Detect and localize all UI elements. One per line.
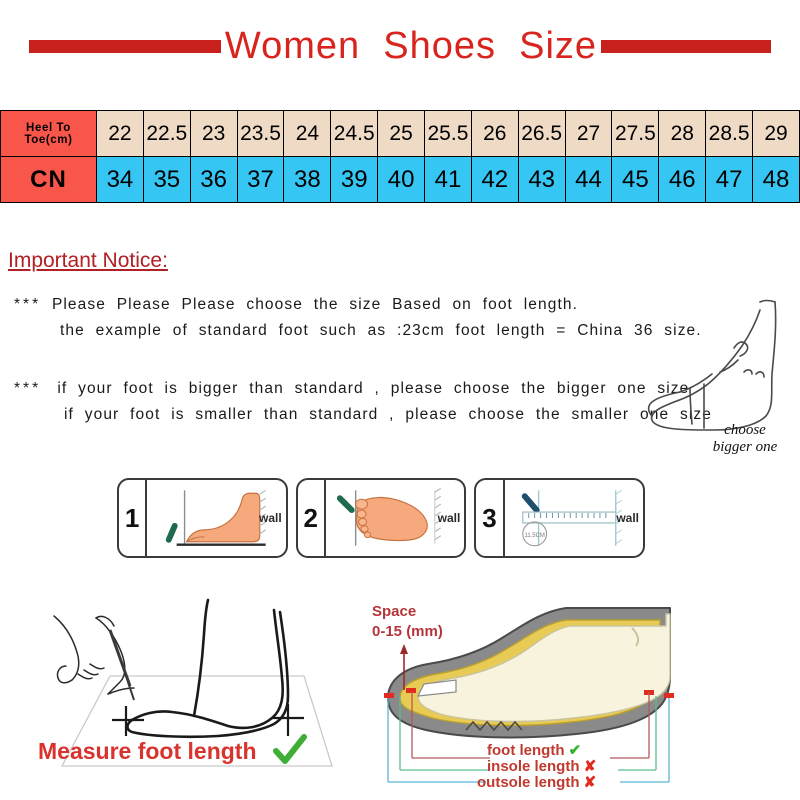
cell-cm: 22	[97, 111, 144, 157]
cell-cm: 23	[190, 111, 237, 157]
title-rule-left	[29, 40, 221, 53]
cell-cm: 24	[284, 111, 331, 157]
important-notice-heading: Important Notice:	[8, 249, 168, 273]
cell-cn: 42	[471, 157, 518, 203]
measure-foot-length-caption: Measure foot length	[38, 738, 257, 765]
caption-line-1: choose	[690, 422, 800, 439]
notice-text: Please Please Please choose the size Bas…	[52, 296, 578, 313]
cell-cm: 29	[753, 111, 800, 157]
title-rule-right	[601, 40, 771, 53]
check-mark-icon	[272, 734, 308, 768]
notice-block-2: *** if your foot is bigger than standard…	[14, 376, 712, 428]
cell-cm: 28	[659, 111, 706, 157]
cell-cn: 34	[97, 157, 144, 203]
notice-line: *** if your foot is bigger than standard…	[14, 376, 712, 402]
step-illustration-foot-top: wall	[326, 480, 464, 556]
caption-line-2: bigger one	[690, 439, 800, 456]
notice-text: if your foot is bigger than standard , p…	[57, 380, 689, 397]
cell-cm: 28.5	[706, 111, 753, 157]
cell-cm: 24.5	[331, 111, 378, 157]
cell-cm: 23.5	[237, 111, 284, 157]
row-label-heel-to-toe: Heel To Toe(cm)	[1, 111, 97, 157]
step-illustration-ruler: 11.5CM wall	[505, 480, 643, 556]
step-panel-1: 1 wall	[117, 478, 288, 558]
cell-cn: 35	[143, 157, 190, 203]
cross-mark-icon: ✘	[584, 774, 597, 791]
cell-cm: 26.5	[518, 111, 565, 157]
cell-cm: 26	[471, 111, 518, 157]
cell-cn: 46	[659, 157, 706, 203]
cell-cn: 48	[753, 157, 800, 203]
step-number: 2	[298, 480, 326, 556]
measurement-steps: 1 wall 2	[117, 478, 645, 558]
space-label-line-1: Space	[372, 602, 443, 622]
cell-cm: 27	[565, 111, 612, 157]
ruler-reading: 11.5CM	[524, 533, 544, 539]
wall-label: wall	[616, 511, 639, 525]
cell-cm: 25	[378, 111, 425, 157]
cell-cn: 39	[331, 157, 378, 203]
cell-cm: 22.5	[143, 111, 190, 157]
table-row-cn: CN 34 35 36 37 38 39 40 41 42 43 44 45 4…	[1, 157, 800, 203]
row-label-cn: CN	[1, 157, 97, 203]
table-row-heel-to-toe: Heel To Toe(cm) 22 22.5 23 23.5 24 24.5 …	[1, 111, 800, 157]
cell-cn: 41	[425, 157, 472, 203]
page-title-bar: Women Shoes Size	[0, 18, 800, 74]
cell-cn: 37	[237, 157, 284, 203]
dimension-label-outsole-length: outsole length ✘	[477, 773, 596, 791]
cell-cn: 40	[378, 157, 425, 203]
cell-cm: 25.5	[425, 111, 472, 157]
page-title: Women Shoes Size	[221, 27, 601, 65]
notice-line: if your foot is smaller than standard , …	[14, 402, 712, 428]
cell-cn: 36	[190, 157, 237, 203]
step-panel-3: 3 11.5CM	[474, 478, 645, 558]
cell-cn: 43	[518, 157, 565, 203]
foot-sketch-caption: choose bigger one	[690, 422, 800, 456]
space-label-line-2: 0-15 (mm)	[372, 622, 443, 642]
step-number: 3	[476, 480, 504, 556]
notice-text: if your foot is smaller than standard , …	[64, 406, 712, 423]
cell-cm: 27.5	[612, 111, 659, 157]
step-illustration-foot-side: wall	[147, 480, 285, 556]
asterisk-bullet: ***	[14, 380, 41, 397]
notice-line: *** Please Please Please choose the size…	[14, 292, 702, 318]
step-number: 1	[119, 480, 147, 556]
cell-cn: 44	[565, 157, 612, 203]
dimension-text: outsole length	[477, 774, 580, 791]
space-gap-label: Space 0-15 (mm)	[372, 602, 443, 642]
wall-label: wall	[438, 511, 461, 525]
wall-label: wall	[259, 511, 282, 525]
step-panel-2: 2	[296, 478, 467, 558]
asterisk-bullet: ***	[14, 296, 41, 313]
notice-text: the example of standard foot such as :23…	[60, 322, 702, 339]
notice-block-1: *** Please Please Please choose the size…	[14, 292, 702, 344]
size-chart-table: Heel To Toe(cm) 22 22.5 23 23.5 24 24.5 …	[0, 110, 800, 203]
cell-cn: 45	[612, 157, 659, 203]
cell-cn: 38	[284, 157, 331, 203]
notice-line: the example of standard foot such as :23…	[14, 318, 702, 344]
cell-cn: 47	[706, 157, 753, 203]
